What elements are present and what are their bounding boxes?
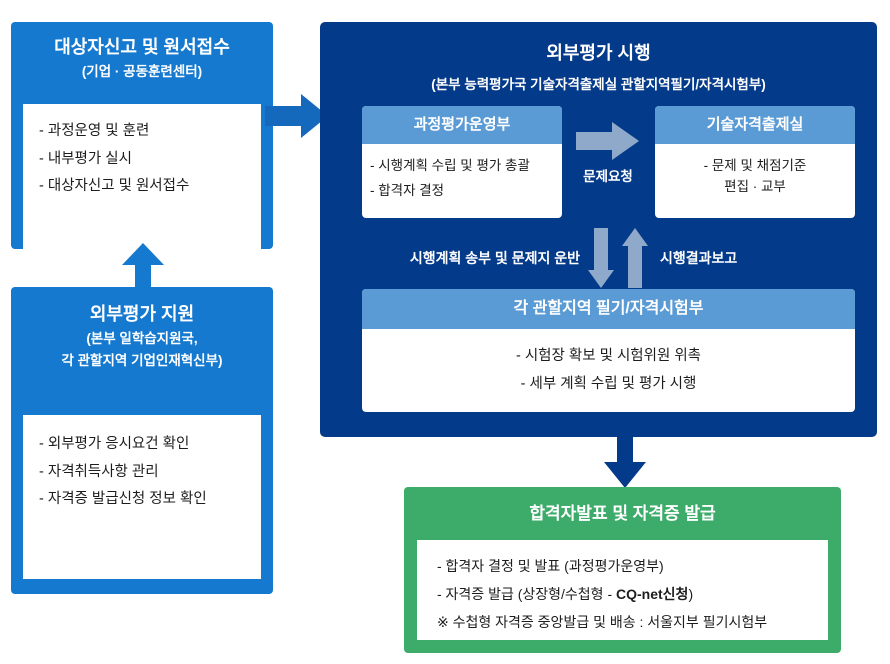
- target-declaration-items: - 과정운영 및 훈련 - 내부평가 실시 - 대상자신고 및 원서접수: [23, 104, 261, 256]
- pass-announcement-certificate-issuance-box: 합격자발표 및 자격증 발급 - 합격자 결정 및 발표 (과정평가운영부) -…: [404, 487, 841, 653]
- list-item: - 합격자 결정 및 발표 (과정평가운영부): [437, 552, 828, 580]
- support-items: - 외부평가 응시요건 확인 - 자격취득사항 관리 - 자격증 발급신청 정보…: [23, 415, 261, 579]
- arrow-down-icon: [588, 228, 614, 288]
- target-declaration-subtitle: (기업 · 공동훈련센터): [23, 63, 261, 81]
- plan-dispatch-label: 시행계획 송부 및 문제지 운반: [370, 248, 580, 268]
- list-item: - 대상자신고 및 원서접수: [39, 173, 261, 201]
- arrow-right-icon: [576, 121, 640, 161]
- operating-dept-header: 과정평가운영부: [362, 106, 562, 144]
- target-declaration-box: 대상자신고 및 원서접수 (기업 · 공동훈련센터) - 과정운영 및 훈련 -…: [11, 22, 273, 249]
- list-item: - 합격자 결정: [370, 179, 562, 204]
- exam-office-header: 기술자격출제실: [655, 106, 855, 144]
- cqnet-suffix: ): [688, 586, 693, 602]
- operating-dept-items: - 시행계획 수립 및 평가 총괄 - 합격자 결정: [362, 144, 562, 204]
- list-item: - 자격증 발급신청 정보 확인: [39, 486, 261, 514]
- list-item: - 과정운영 및 훈련: [39, 118, 261, 146]
- result-items: - 합격자 결정 및 발표 (과정평가운영부) - 자격증 발급 (상장형/수첩…: [417, 540, 828, 640]
- technical-qualification-exam-office-card: 기술자격출제실 - 문제 및 채점기준 편집 · 교부: [655, 106, 855, 218]
- course-evaluation-operating-dept-card: 과정평가운영부 - 시행계획 수립 및 평가 총괄 - 합격자 결정: [362, 106, 562, 218]
- regional-written-qualification-exam-dept-card: 각 관할지역 필기/자격시험부 - 시험장 확보 및 시험위원 위촉 - 세부 …: [362, 289, 855, 412]
- target-declaration-title: 대상자신고 및 원서접수: [23, 36, 261, 59]
- main-panel-title: 외부평가 시행: [320, 39, 877, 65]
- list-item-certificate: - 자격증 발급 (상장형/수첩형 - CQ-net신청): [437, 580, 828, 608]
- request-problem-label: 문제요청: [565, 165, 651, 185]
- cqnet-label: CQ-net신청: [616, 586, 688, 602]
- arrow-up-icon: [622, 228, 648, 288]
- main-panel-subtitle: (본부 능력평가국 기술자격출제실 관할지역필기/자격시험부): [320, 73, 877, 93]
- list-item: - 외부평가 응시요건 확인: [39, 431, 261, 459]
- support-subtitle-line1: (본부 일학습지원국,: [23, 330, 261, 348]
- support-subtitle-line2: 각 관할지역 기업인재혁신부): [23, 352, 261, 370]
- certificate-text: - 자격증 발급 (상장형/수첩형 -: [437, 586, 616, 602]
- list-item: - 내부평가 실시: [39, 146, 261, 174]
- exam-office-line-2: 편집 · 교부: [655, 177, 855, 198]
- flow-diagram: 대상자신고 및 원서접수 (기업 · 공동훈련센터) - 과정운영 및 훈련 -…: [0, 0, 890, 664]
- region-header: 각 관할지역 필기/자격시험부: [362, 289, 855, 329]
- arrow-down-icon: [603, 432, 647, 488]
- list-item: - 시험장 확보 및 시험위원 위촉: [362, 343, 855, 371]
- list-item: ※ 수첩형 자격증 중앙발급 및 배송 : 서울지부 필기시험부: [437, 608, 828, 636]
- result-report-label: 시행결과보고: [660, 248, 850, 268]
- region-items: - 시험장 확보 및 시험위원 위촉 - 세부 계획 수립 및 평가 시행: [362, 329, 855, 398]
- arrow-up-icon: [121, 243, 165, 293]
- support-title: 외부평가 지원: [23, 303, 261, 326]
- exam-office-line-1: - 문제 및 채점기준: [655, 156, 855, 177]
- list-item: - 시행계획 수립 및 평가 총괄: [370, 154, 562, 179]
- exam-office-items: - 문제 및 채점기준 편집 · 교부: [655, 144, 855, 198]
- result-title: 합격자발표 및 자격증 발급: [414, 503, 831, 525]
- list-item: - 자격취득사항 관리: [39, 459, 261, 487]
- list-item: - 세부 계획 수립 및 평가 시행: [362, 371, 855, 399]
- external-evaluation-support-box: 외부평가 지원 (본부 일학습지원국, 각 관할지역 기업인재혁신부) - 외부…: [11, 287, 273, 594]
